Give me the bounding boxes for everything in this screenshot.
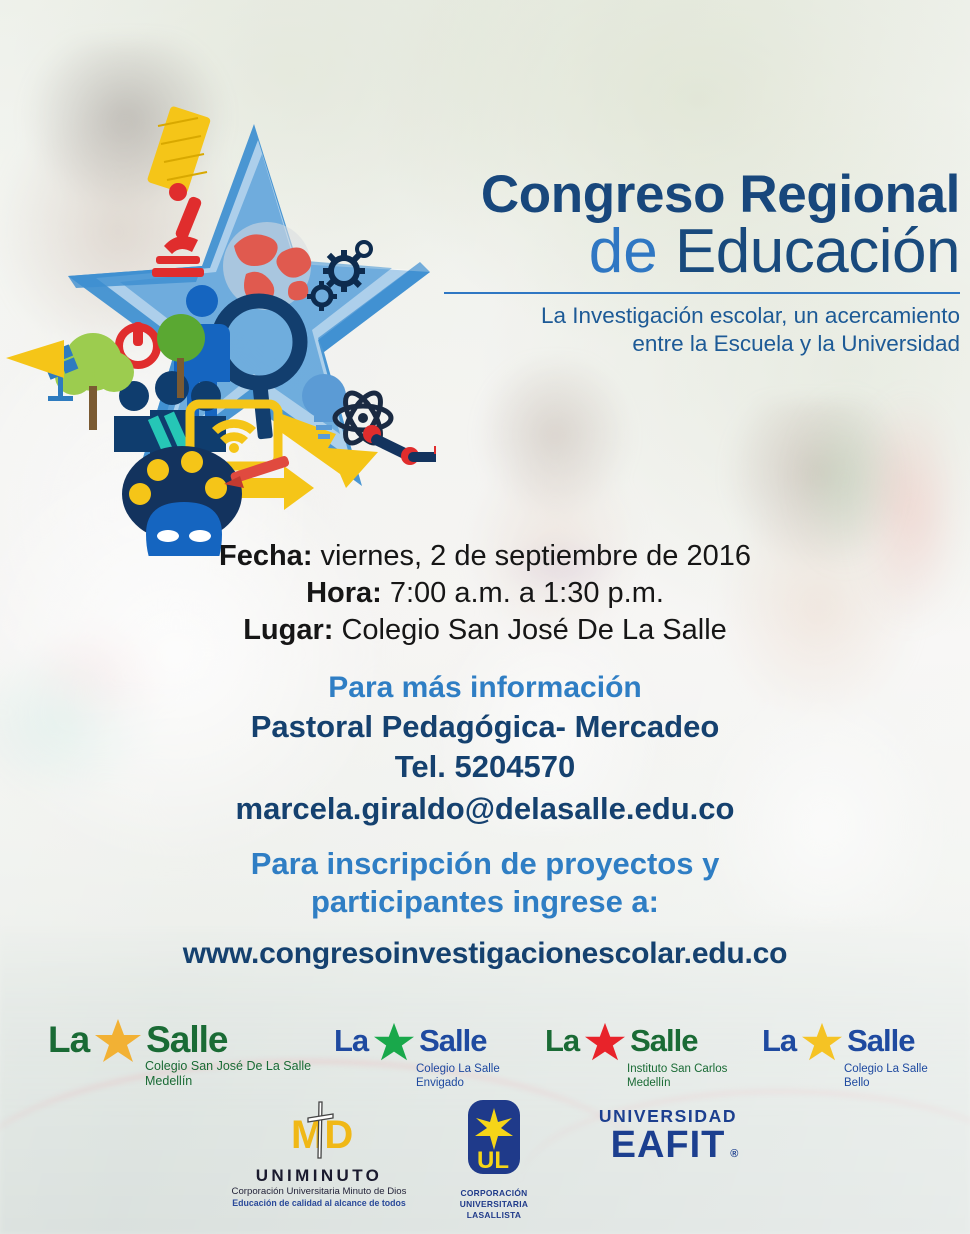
title-de: de: [589, 217, 675, 286]
logo-la: La: [48, 1018, 89, 1062]
title-line-2: de Educación: [420, 220, 960, 284]
detail-row-lugar: Lugar: Colegio San José De La Salle: [0, 612, 970, 649]
logo-wordmark: La Salle: [762, 1022, 928, 1066]
logo-subtitle: Colegio La Salle Envigado: [416, 1063, 500, 1091]
star-emblem: [6, 96, 436, 556]
logo-salle: Salle: [630, 1022, 697, 1060]
uniminuto-subtitle-2: Educación de calidad al alcance de todos: [228, 1198, 410, 1209]
star-icon: [94, 1018, 142, 1069]
uniminuto-mark: MD: [228, 1100, 410, 1167]
info-department: Pastoral Pedagógica- Mercadeo: [0, 707, 970, 747]
fecha-value: viernes, 2 de septiembre de 2016: [312, 540, 751, 572]
eafit-line-2: EAFIT®: [611, 1127, 726, 1163]
uniminuto-subtitle-1: Corporación Universitaria Minuto de Dios: [228, 1186, 410, 1198]
logo-subtitle: Colegio San José De La Salle Medellín: [145, 1059, 311, 1089]
star-icon: [584, 1022, 626, 1067]
microscope-icon: [152, 183, 204, 277]
subtitle-line-2: entre la Escuela y la Universidad: [420, 330, 960, 359]
lasalle-logo-bello: La Salle Colegio La Salle Bello: [762, 1022, 928, 1091]
fecha-label: Fecha:: [219, 540, 312, 572]
lasallista-monogram: UL: [477, 1147, 509, 1174]
uniminuto-name: UNIMINUTO: [228, 1167, 410, 1184]
registration-heading-2: participantes ingrese a:: [0, 883, 970, 921]
logo-salle: Salle: [419, 1022, 486, 1060]
lasallista-caption-2: UNIVERSITARIA: [432, 1199, 556, 1210]
title-line-1: Congreso Regional: [420, 168, 960, 222]
logo-wordmark: La Salle: [48, 1018, 311, 1062]
info-phone: Tel. 5204570: [0, 747, 970, 787]
sponsor-logo-row: MD UNIMINUTO Corporación Universitaria M…: [0, 1098, 970, 1228]
lasalle-logo-row: La Salle Colegio San José De La Salle Me…: [0, 1000, 970, 1095]
lasalle-logo-envigado: La Salle Colegio La Salle Envigado: [334, 1022, 500, 1091]
logo-subtitle: Colegio La Salle Bello: [844, 1063, 928, 1091]
lasallista-caption-3: LASALLISTA: [432, 1210, 556, 1221]
logo-salle: Salle: [146, 1018, 227, 1062]
sponsor-lasallista: UL CORPORACIÓN UNIVERSITARIA LASALLISTA: [432, 1098, 556, 1221]
info-heading: Para más información: [0, 668, 970, 707]
logo-la: La: [762, 1022, 796, 1060]
lasalle-logo-san-carlos: La Salle Instituto San Carlos Medellín: [545, 1022, 727, 1091]
lasallista-mark: UL: [432, 1098, 556, 1185]
subtitle-line-1: La Investigación escolar, un acercamient…: [420, 302, 960, 331]
windmill-icon: [147, 105, 212, 194]
detail-row-fecha: Fecha: viernes, 2 de septiembre de 2016: [0, 538, 970, 575]
registration-heading-1: Para inscripción de proyectos y: [0, 845, 970, 883]
star-icon: [373, 1022, 415, 1067]
info-email[interactable]: marcela.giraldo@delasalle.edu.co: [0, 788, 970, 830]
logo-wordmark: La Salle: [334, 1022, 500, 1066]
registered-icon: ®: [730, 1149, 738, 1160]
sponsor-eafit: UNIVERSIDAD EAFIT®: [578, 1108, 758, 1163]
lugar-value: Colegio San José De La Salle: [333, 614, 726, 646]
lasalle-logo-medellin: La Salle Colegio San José De La Salle Me…: [48, 1018, 311, 1089]
contact-info-block: Para más información Pastoral Pedagógica…: [0, 668, 970, 829]
eafit-wordmark: EAFIT: [611, 1124, 726, 1166]
lugar-label: Lugar:: [243, 614, 333, 646]
hora-label: Hora:: [306, 577, 382, 609]
logo-la: La: [545, 1022, 579, 1060]
logo-subtitle: Instituto San Carlos Medellín: [627, 1063, 727, 1091]
registration-block: Para inscripción de proyectos y particip…: [0, 845, 970, 971]
detail-row-hora: Hora: 7:00 a.m. a 1:30 p.m.: [0, 575, 970, 612]
title-block: Congreso Regional de Educación La Invest…: [420, 168, 960, 359]
star-icon: [801, 1022, 843, 1067]
logo-la: La: [334, 1022, 368, 1060]
sponsor-uniminuto: MD UNIMINUTO Corporación Universitaria M…: [228, 1100, 410, 1209]
hora-value: 7:00 a.m. a 1:30 p.m.: [382, 577, 664, 609]
title-divider: [444, 292, 960, 294]
logo-wordmark: La Salle: [545, 1022, 727, 1066]
arrow-left-icon: [6, 340, 64, 378]
event-details: Fecha: viernes, 2 de septiembre de 2016 …: [0, 538, 970, 649]
logo-salle: Salle: [847, 1022, 914, 1060]
title-educacion: Educación: [675, 217, 960, 286]
poster-canvas: Congreso Regional de Educación La Invest…: [0, 0, 970, 1234]
lasallista-caption-1: CORPORACIÓN: [432, 1188, 556, 1199]
registration-url[interactable]: www.congresoinvestigacionescolar.edu.co: [0, 937, 970, 971]
